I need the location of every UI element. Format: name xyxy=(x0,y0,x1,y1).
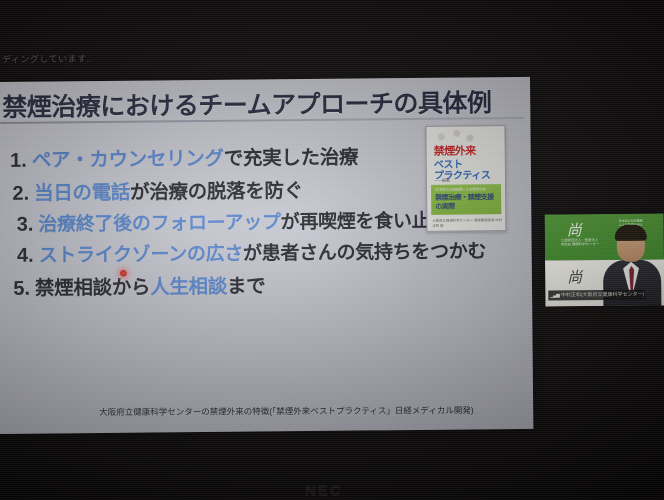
list-item: 3. 治療終了後のフォローアップが再喫煙を食い止める xyxy=(7,206,431,237)
speaker-glasses xyxy=(619,240,643,247)
book-cover-thumbnail: 禁煙外来 ベスト プラクティス ——編著 日本初の公的機関による禁煙外来 禁煙治… xyxy=(425,125,506,232)
list-item-number: 3. xyxy=(7,214,33,237)
speaker-hair xyxy=(615,225,647,241)
list-item-rest: が患者さんの気持ちをつかむ xyxy=(243,241,486,264)
laser-pointer-dot xyxy=(120,270,127,277)
slide-footer-caption: 大阪府立健康科学センターの禁煙外来の特徴(「禁煙外来ベストプラクティス」日経メデ… xyxy=(99,404,519,418)
screenshot-stage: ディングしています.. 禁煙治療におけるチームアプローチの具体例 1. ペア・カ… xyxy=(0,0,664,500)
backdrop-logo-icon: 尚 xyxy=(567,219,582,240)
book-byline: ——編著 xyxy=(434,178,450,184)
list-item-rest: で充実した治療 xyxy=(224,147,359,170)
backdrop-logo-lower-icon: 尚 xyxy=(567,266,582,287)
list-item-text: ストライクゾーンの広さが患者さんの気持ちをつかむ xyxy=(39,236,487,267)
list-item-highlight: 人生相談 xyxy=(150,276,227,299)
list-item-number: 2. xyxy=(3,183,29,206)
speaker-name-caption: ▁▃▅中村正和(大阪府立健康科学センター) xyxy=(548,290,645,301)
list-item-number: 1. xyxy=(1,150,27,173)
book-bottom-note: 大阪府立健康科学センター 健康開発部長 中村正和 編 xyxy=(432,217,505,228)
slide-bullet-list: 1. ペア・カウンセリングで充実した治療 2. 当日の電話が治療の脱落を防ぐ 3… xyxy=(1,140,433,305)
list-item-highlight: 当日の電話 xyxy=(34,182,130,205)
list-item-text: 禁煙相談から人生相談まで xyxy=(35,269,266,300)
list-item: 5. 禁煙相談から人生相談まで xyxy=(4,268,432,301)
backdrop-logo-subtext: 公益財団法人・医療法人尚志会 健康科学センター xyxy=(561,238,599,247)
list-item-rest: が治療の脱落を防ぐ xyxy=(130,180,303,204)
speaker-name-text: 中村正和(大阪府立健康科学センター) xyxy=(561,292,644,299)
list-item: 1. ペア・カウンセリングで充実した治療 xyxy=(1,140,431,173)
list-item: 4. ストライクゾーンの広さが患者さんの気持ちをつかむ xyxy=(8,237,432,268)
list-item-number: 4. xyxy=(8,245,34,268)
list-item: 2. 当日の電話が治療の脱落を防ぐ xyxy=(3,173,431,206)
monitor-brand-logo: NEC xyxy=(305,482,343,499)
list-item-highlight: 治療終了後のフォローアップ xyxy=(38,212,281,235)
recording-status-text: ディングしています.. xyxy=(2,52,93,66)
list-item-number: 5. xyxy=(4,278,30,301)
book-band-line2: の実際 xyxy=(435,202,455,212)
book-band-small-text: 日本初の公的機関による禁煙外来 xyxy=(435,186,486,191)
list-item-text: 当日の電話が治療の脱落を防ぐ xyxy=(34,174,303,206)
list-item-text: 治療終了後のフォローアップが再喫煙を食い止める xyxy=(38,205,468,236)
signal-bars-icon: ▁▃▅ xyxy=(550,290,559,300)
list-item-text: ペア・カウンセリングで充実した治療 xyxy=(32,141,359,173)
book-green-band: 日本初の公的機関による禁煙外来 禁煙治療・禁煙支援 の実際 xyxy=(431,184,501,215)
list-item-pre: 禁煙相談から xyxy=(35,277,150,300)
list-item-post: まで xyxy=(227,275,266,297)
webcam-video-tile[interactable]: 尚 公益財団法人・医療法人尚志会 健康科学センター 尚 日本初の公的機関による禁… xyxy=(545,213,664,306)
list-item-highlight: ペア・カウンセリング xyxy=(32,148,224,172)
list-item-highlight: ストライクゾーンの広さ xyxy=(39,244,244,267)
presentation-slide: 禁煙治療におけるチームアプローチの具体例 1. ペア・カウンセリングで充実した治… xyxy=(0,77,533,434)
